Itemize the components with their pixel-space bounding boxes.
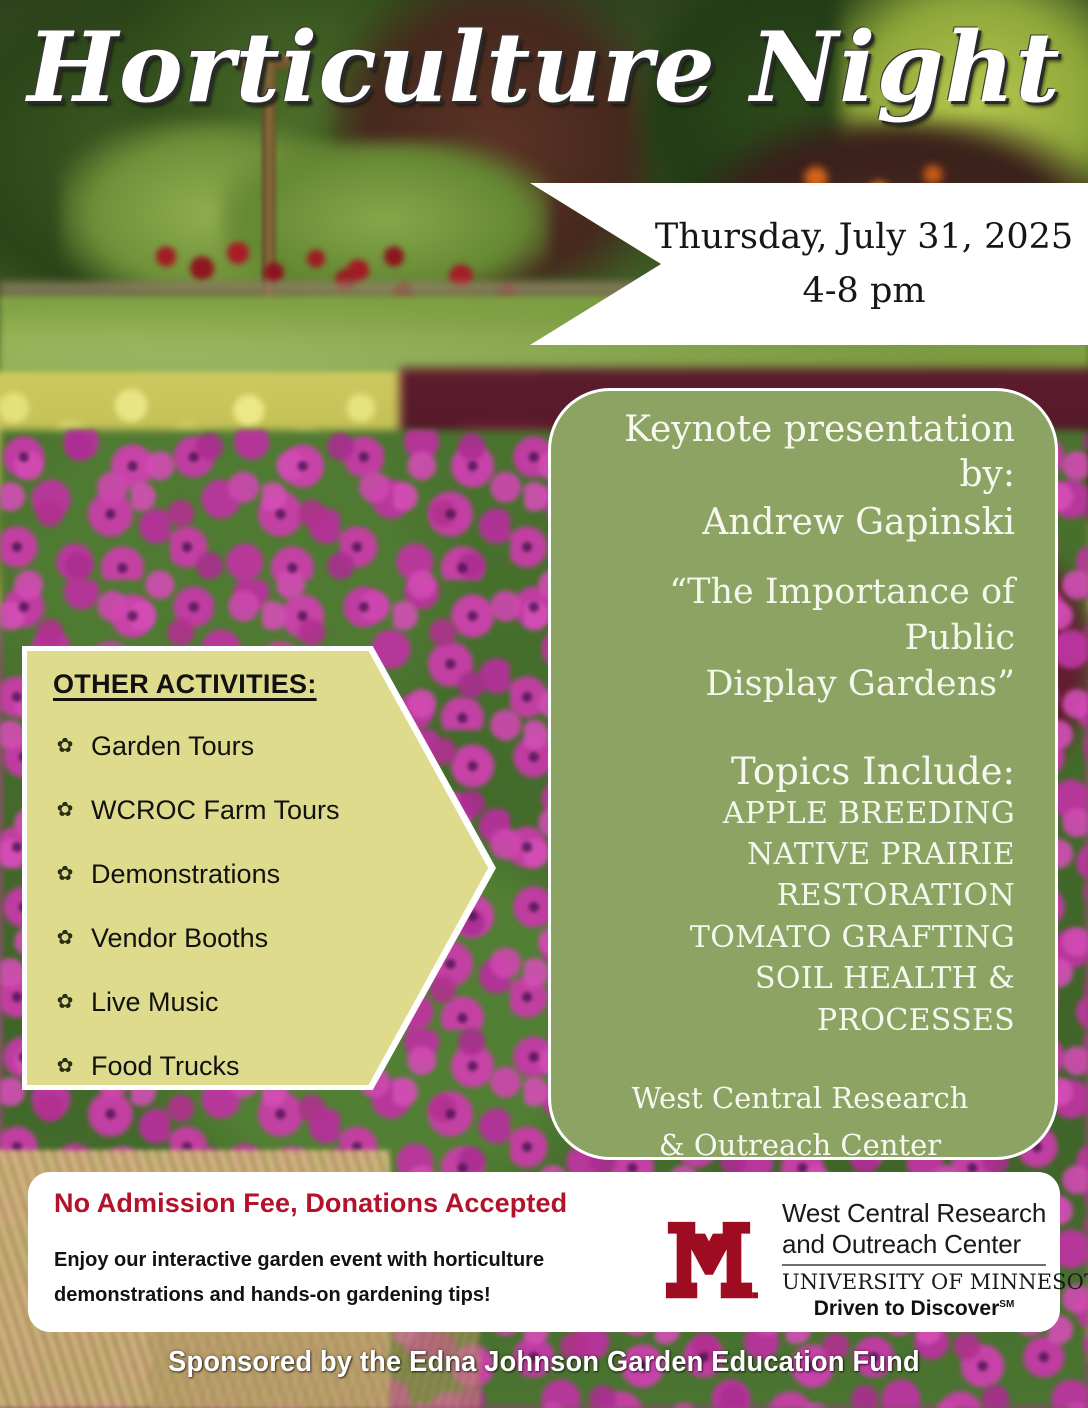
activity-label: Food Trucks [91, 1051, 240, 1082]
keynote-talk-title-line2: Display Gardens” [585, 661, 1015, 707]
activity-label: Garden Tours [91, 731, 254, 762]
topic-item: SOIL HEALTH & PROCESSES [585, 958, 1015, 1041]
keynote-panel: Keynote presentation by: Andrew Gapinski… [548, 388, 1058, 1160]
logo-tagline-sup: SM [999, 1299, 1014, 1310]
flower-bullet-icon: ✿ [53, 800, 77, 820]
venue-name-line2: & Outreach Center [585, 1122, 1015, 1160]
flower-bullet-icon: ✿ [53, 736, 77, 756]
topic-item: TOMATO GRAFTING [585, 917, 1015, 958]
list-item: ✿ Vendor Booths [53, 906, 491, 970]
list-item: ✿ Demonstrations [53, 842, 491, 906]
list-item: ✿ WCROC Farm Tours [53, 778, 491, 842]
event-flyer: Horticulture Night Thursday, July 31, 20… [0, 0, 1088, 1408]
keynote-speaker-name: Andrew Gapinski [585, 500, 1015, 545]
logo-wordmark: West Central Research and Outreach Cente… [782, 1196, 1088, 1321]
flower-bullet-icon: ✿ [53, 992, 77, 1012]
logo-tagline: Driven to DiscoverSM [782, 1297, 1046, 1321]
logo-university-name: UNIVERSITY OF MINNESOTA [782, 1270, 1088, 1294]
flower-bullet-icon: ✿ [53, 1056, 77, 1076]
venue-name-line1: West Central Research [585, 1075, 1015, 1122]
logo-unit-line1: West Central Research [782, 1198, 1088, 1229]
logo-tagline-text: Driven to Discover [814, 1297, 1000, 1320]
umn-wcroc-logo: West Central Research and Outreach Cente… [650, 1196, 1054, 1322]
activity-label: Vendor Booths [91, 923, 268, 954]
keynote-talk-title-line1: “The Importance of Public [585, 569, 1015, 661]
event-date: Thursday, July 31, 2025 [655, 217, 1073, 257]
event-blurb-line2: demonstrations and hands-on gardening ti… [54, 1278, 654, 1313]
flower-bullet-icon: ✿ [53, 928, 77, 948]
event-time: 4-8 pm [802, 271, 925, 311]
keynote-heading-line1: Keynote presentation by: [585, 407, 1015, 498]
topic-item: NATIVE PRAIRIE RESTORATION [585, 834, 1015, 917]
activity-label: Live Music [91, 987, 219, 1018]
admission-info-text: No Admission Fee, Donations Accepted Enj… [54, 1188, 654, 1313]
event-blurb-line1: Enjoy our interactive garden event with … [54, 1243, 654, 1278]
flyer-title: Horticulture Night [0, 18, 1088, 119]
topics-heading: Topics Include: [585, 750, 1015, 793]
topic-item: APPLE BREEDING [585, 793, 1015, 834]
activity-label: Demonstrations [91, 859, 280, 890]
flower-bullet-icon: ✿ [53, 864, 77, 884]
logo-unit-line2: and Outreach Center [782, 1229, 1088, 1260]
logo-divider [782, 1264, 1046, 1266]
sponsor-line: Sponsored by the Edna Johnson Garden Edu… [33, 1346, 1056, 1379]
admission-fee-notice: No Admission Fee, Donations Accepted [54, 1188, 654, 1219]
umn-block-m-icon [650, 1214, 768, 1310]
activity-label: WCROC Farm Tours [91, 795, 340, 826]
